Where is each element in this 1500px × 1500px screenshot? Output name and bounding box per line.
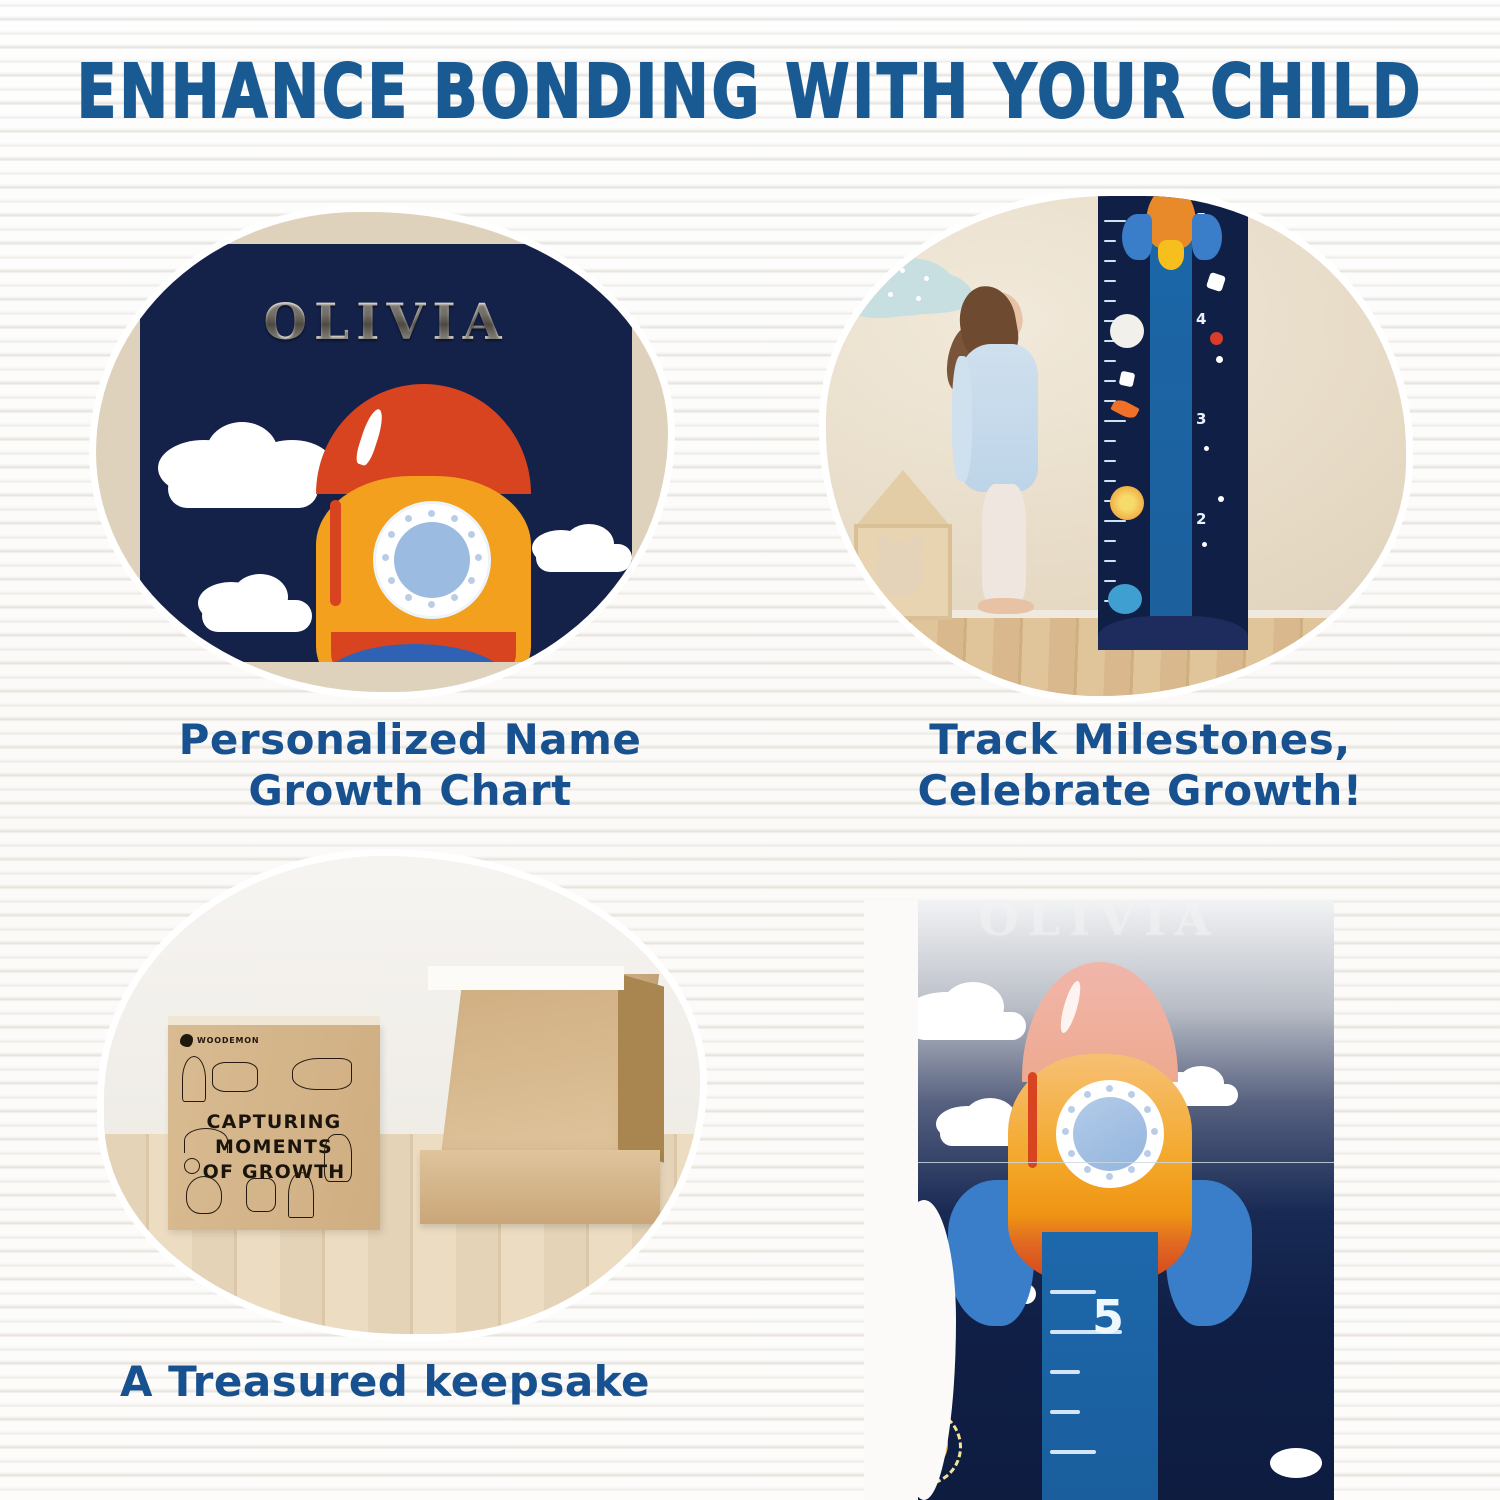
rocket-porthole xyxy=(1056,1080,1164,1188)
planet-saturn-icon xyxy=(1108,584,1142,614)
height-ruler xyxy=(1150,214,1192,634)
growth-chart-artwork: OLIVIA xyxy=(140,244,632,662)
doodle-dinosaur-icon xyxy=(292,1058,352,1090)
sun-icon xyxy=(1110,486,1144,520)
comet-icon xyxy=(1110,397,1140,422)
star-dot xyxy=(1202,542,1207,547)
porthole-glass xyxy=(1073,1097,1147,1171)
child-legs xyxy=(982,484,1026,606)
panel-rocket-closeup: OLIVIA xyxy=(864,900,1334,1500)
doodle-plant-icon xyxy=(182,1056,206,1102)
doodle-rainbow-icon xyxy=(184,1128,228,1153)
caption-lifestyle-wall: Track Milestones, Celebrate Growth! xyxy=(880,714,1400,816)
brand-mascot-icon xyxy=(180,1034,193,1047)
box-side-flap xyxy=(618,973,664,1162)
height-ruler-large xyxy=(1042,1232,1158,1500)
rocket-illustration xyxy=(316,384,531,662)
caption-line: A Treasured keepsake xyxy=(120,1356,700,1407)
chart-panel-seam xyxy=(864,1162,1334,1163)
planet-red-icon xyxy=(1210,332,1223,345)
cloud-icon xyxy=(1270,1448,1322,1478)
doodle-lion-icon xyxy=(212,1062,258,1092)
caption-packaging: A Treasured keepsake xyxy=(120,1356,700,1407)
cloud-icon xyxy=(536,544,632,572)
porthole-glass xyxy=(394,522,470,598)
ruler-number: 3 xyxy=(1196,410,1206,428)
wall-growth-chart-strip: 5 4 3 2 xyxy=(1098,196,1248,650)
doodle-sun-icon xyxy=(184,1158,200,1174)
moon-icon xyxy=(1110,314,1144,348)
opened-gift-box xyxy=(404,974,670,1236)
ruler-number: 2 xyxy=(1196,510,1206,528)
child-photo-figure xyxy=(938,292,1058,622)
mini-rocket-fin xyxy=(1122,214,1152,260)
rocket-side-stripe xyxy=(1028,1072,1037,1168)
star-dot xyxy=(1218,496,1224,502)
rocket-side-stripe xyxy=(330,500,341,606)
caption-line: Personalized Name xyxy=(150,714,670,765)
ruler-number: 4 xyxy=(1196,310,1206,328)
doodle-cat-icon xyxy=(246,1178,276,1212)
rocket-porthole xyxy=(376,504,488,616)
star-icon xyxy=(1206,272,1226,292)
cloud-icon xyxy=(202,600,312,632)
caption-line: Track Milestones, xyxy=(880,714,1400,765)
personalized-name-faded: OLIVIA xyxy=(864,900,1334,946)
teddy-bear xyxy=(876,542,924,596)
star-dot xyxy=(1216,356,1223,363)
mini-rocket-fin xyxy=(1192,214,1222,260)
chart-base-hills xyxy=(1098,616,1248,650)
child-feet xyxy=(978,598,1034,614)
caption-line: Growth Chart xyxy=(150,765,670,816)
brand-name: WOODEMON xyxy=(197,1036,259,1045)
doodle-giraffe-icon xyxy=(324,1134,352,1182)
caption-personalized-chart: Personalized Name Growth Chart xyxy=(150,714,670,816)
doodle-bird-icon xyxy=(186,1176,222,1214)
panel-packaging: WOODEMON CAPTURING MOMENTS OF GROWTH xyxy=(104,856,700,1334)
box-contents-white xyxy=(428,966,624,990)
star-icon xyxy=(1119,371,1136,388)
brand-logo: WOODEMON xyxy=(180,1034,259,1047)
closed-gift-box: WOODEMON CAPTURING MOMENTS OF GROWTH xyxy=(168,1024,380,1230)
personalized-name-text: OLIVIA xyxy=(140,292,632,351)
box-tray xyxy=(420,1150,660,1224)
cloud-icon xyxy=(168,470,318,508)
doodle-palm-icon xyxy=(288,1172,314,1218)
panel-lifestyle-wall: 5 4 3 2 xyxy=(826,196,1406,696)
box-top-edge xyxy=(168,1016,380,1025)
mini-rocket-flame xyxy=(1158,240,1184,270)
child-arm xyxy=(952,356,972,482)
page-headline: ENHANCE BONDING WITH YOUR CHILD xyxy=(0,48,1500,135)
star-dot xyxy=(1204,446,1209,451)
caption-line: Celebrate Growth! xyxy=(880,765,1400,816)
ruler-number-large: 5 xyxy=(1092,1290,1124,1344)
panel-personalized-chart: OLIVIA xyxy=(96,212,668,692)
